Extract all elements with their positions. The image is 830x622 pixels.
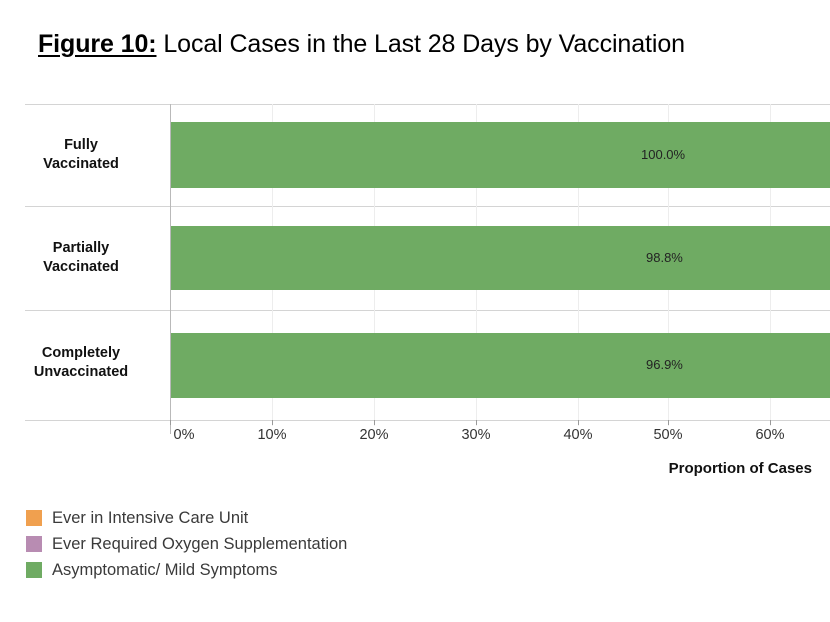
category-label-line1: Fully [0, 136, 162, 155]
tick-mark-0 [170, 420, 171, 425]
tick-label-60: 60% [755, 427, 784, 443]
legend-item-oxygen: Ever Required Oxygen Supplementation [26, 531, 526, 557]
x-axis: 0% 10% 20% 30% 40% 50% 60% [0, 420, 830, 450]
chart-area: Fully Vaccinated 100.0% Partially Vaccin… [0, 96, 830, 446]
category-label-line2: Vaccinated [0, 155, 162, 174]
tick-label-20: 20% [359, 427, 388, 443]
legend-swatch-icon [26, 510, 42, 526]
legend: Ever in Intensive Care Unit Ever Require… [26, 505, 526, 583]
tick-mark-10 [272, 420, 273, 425]
tick-mark-30 [476, 420, 477, 425]
bar-fully-vaccinated-asymptomatic [171, 122, 830, 188]
legend-label: Asymptomatic/ Mild Symptoms [52, 560, 278, 580]
figure-screenshot: Figure 10: Local Cases in the Last 28 Da… [0, 0, 830, 622]
category-label-fully-vaccinated: Fully Vaccinated [0, 136, 162, 174]
figure-number: Figure 10: [38, 30, 156, 58]
category-separator-1 [25, 206, 830, 207]
tick-label-40: 40% [563, 427, 592, 443]
category-label-line1: Partially [0, 239, 162, 258]
legend-label: Ever in Intensive Care Unit [52, 508, 248, 528]
legend-label: Ever Required Oxygen Supplementation [52, 534, 347, 554]
tick-label-30: 30% [461, 427, 490, 443]
category-label-partially-vaccinated: Partially Vaccinated [0, 239, 162, 277]
page-title: Figure 10: Local Cases in the Last 28 Da… [38, 28, 830, 60]
tick-mark-60 [770, 420, 771, 425]
tick-label-0: 0% [174, 427, 195, 443]
legend-swatch-icon [26, 536, 42, 552]
category-label-line1: Completely [0, 344, 162, 363]
bar-completely-unvaccinated-asymptomatic [171, 333, 830, 398]
legend-item-asymptomatic: Asymptomatic/ Mild Symptoms [26, 557, 526, 583]
tick-mark-20 [374, 420, 375, 425]
tick-mark-50 [668, 420, 669, 425]
category-label-completely-unvaccinated: Completely Unvaccinated [0, 344, 162, 382]
tick-label-50: 50% [653, 427, 682, 443]
x-axis-title: Proportion of Cases [0, 460, 812, 477]
tick-label-10: 10% [257, 427, 286, 443]
figure-title-text: Local Cases in the Last 28 Days by Vacci… [156, 30, 684, 58]
legend-swatch-icon [26, 562, 42, 578]
category-separator-2 [25, 310, 830, 311]
bar-value-label-completely-unvaccinated: 96.9% [646, 357, 683, 372]
tick-mark-40 [578, 420, 579, 425]
bar-value-label-partially-vaccinated: 98.8% [646, 250, 683, 265]
bar-value-label-fully-vaccinated: 100.0% [641, 147, 685, 162]
category-separator-top [25, 104, 830, 105]
legend-item-icu: Ever in Intensive Care Unit [26, 505, 526, 531]
category-label-line2: Vaccinated [0, 258, 162, 277]
bar-partially-vaccinated-asymptomatic [171, 226, 830, 290]
category-label-line2: Unvaccinated [0, 363, 162, 382]
